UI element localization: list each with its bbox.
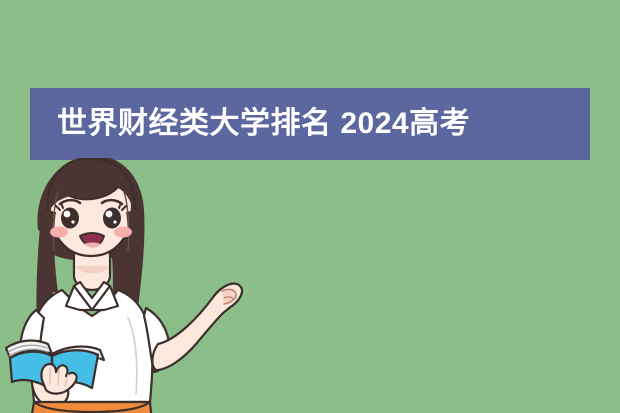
title-bar: 世界财经类大学排名 2024高考 [30,88,590,160]
page-title: 世界财经类大学排名 2024高考 [30,109,470,139]
banner-canvas: 世界财经类大学排名 2024高考 [0,0,620,413]
student-illustration [0,158,260,413]
